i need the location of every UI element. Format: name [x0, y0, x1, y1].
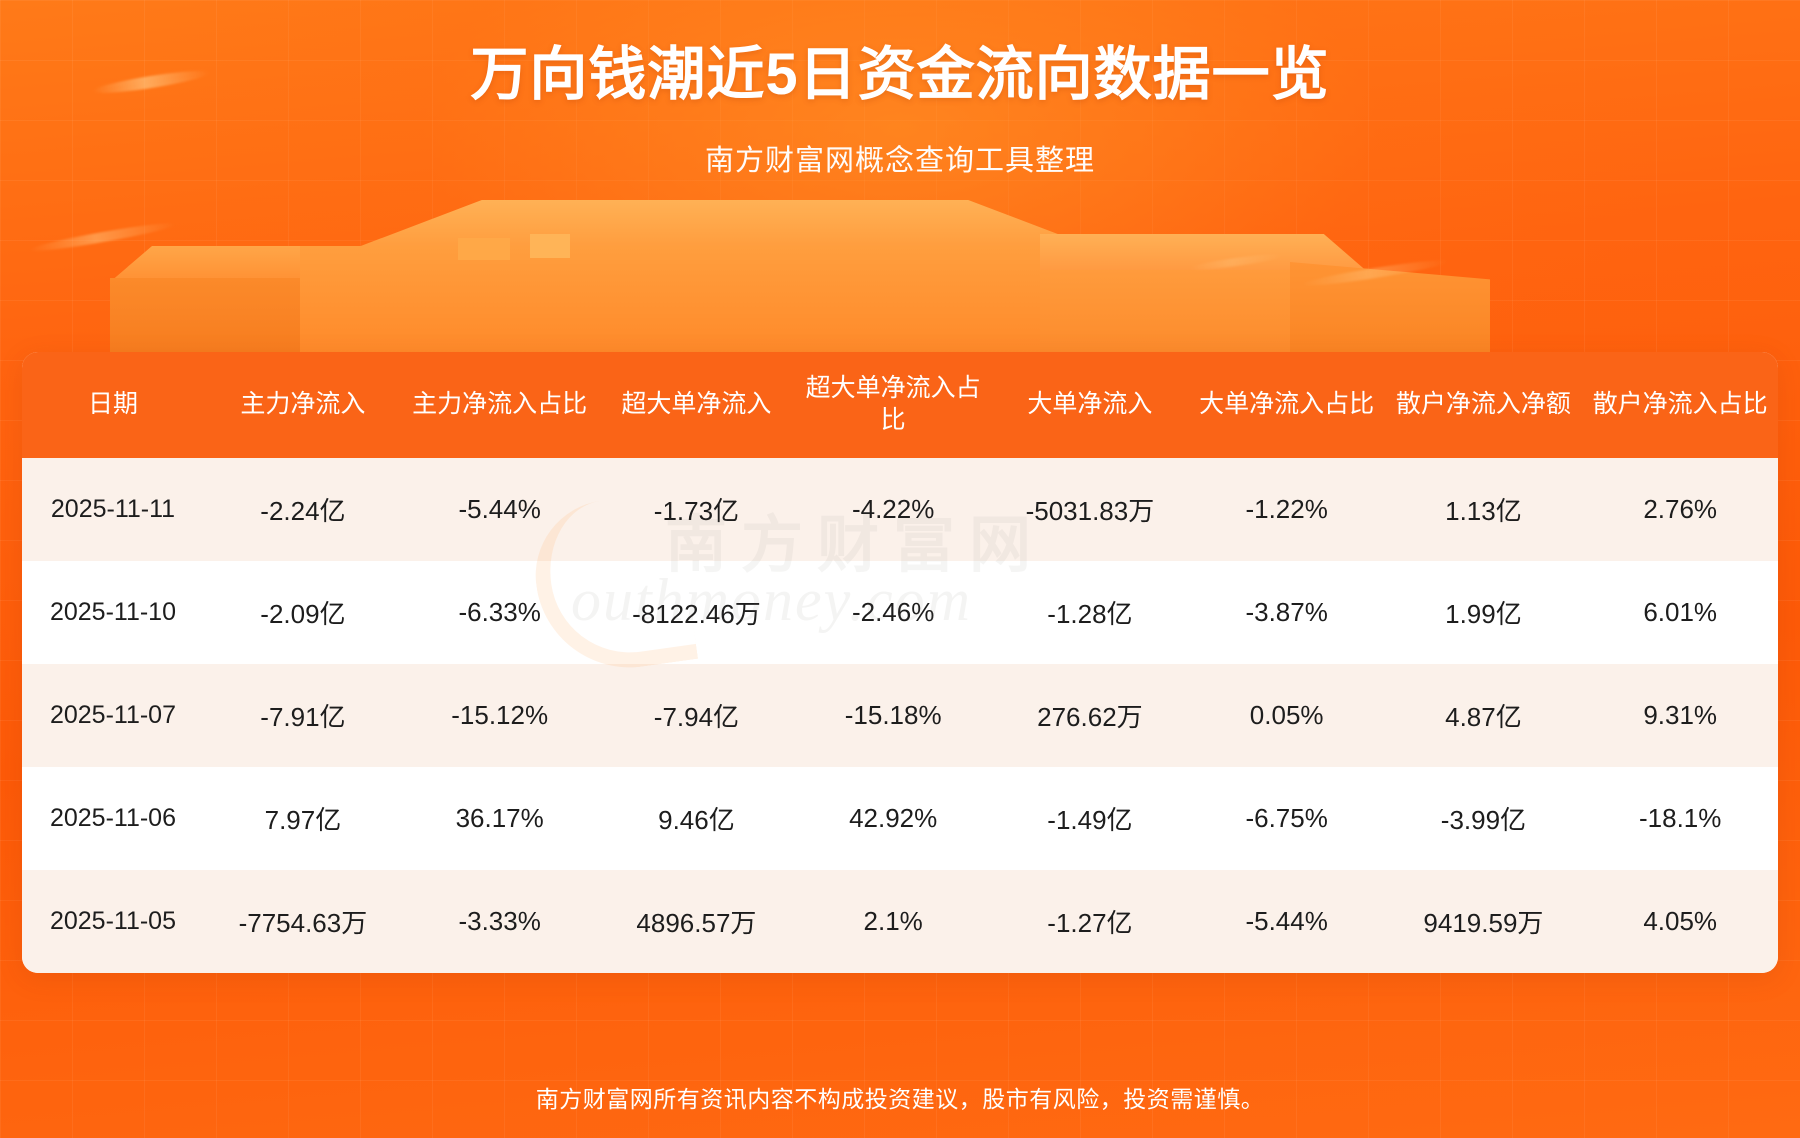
podium-nub-b: [458, 238, 510, 260]
cell-lg-net: -5031.83万: [991, 458, 1189, 561]
cell-xl-pct: 2.1%: [795, 870, 991, 973]
table-row: 2025-11-10 -2.09亿 -6.33% -8122.46万 -2.46…: [22, 561, 1778, 664]
cell-date: 2025-11-07: [22, 664, 204, 767]
column-header-xl-net: 超大单净流入: [597, 352, 795, 458]
page-title: 万向钱潮近5日资金流向数据一览: [0, 44, 1800, 107]
cell-lg-pct: -3.87%: [1189, 561, 1385, 664]
fund-flow-table: 日期 主力净流入 主力净流入占比 超大单净流入 超大单净流入占比 大单净流入 大…: [22, 352, 1778, 973]
cell-main-net: 7.97亿: [204, 767, 402, 870]
cell-main-pct: -3.33%: [402, 870, 598, 973]
disclaimer-text: 南方财富网所有资讯内容不构成投资建议，股市有风险，投资需谨慎。: [0, 1080, 1800, 1114]
cell-xl-pct: -15.18%: [795, 664, 991, 767]
cell-lg-pct: -6.75%: [1189, 767, 1385, 870]
cell-lg-net: -1.28亿: [991, 561, 1189, 664]
cell-lg-pct: -1.22%: [1189, 458, 1385, 561]
cell-lg-net: -1.49亿: [991, 767, 1189, 870]
column-header-main-net: 主力净流入: [204, 352, 402, 458]
cell-lg-net: -1.27亿: [991, 870, 1189, 973]
cell-main-net: -2.09亿: [204, 561, 402, 664]
column-header-lg-pct: 大单净流入占比: [1189, 352, 1385, 458]
cell-lg-net: 276.62万: [991, 664, 1189, 767]
cell-lg-pct: 0.05%: [1189, 664, 1385, 767]
cell-retail-net: -3.99亿: [1384, 767, 1582, 870]
cell-lg-pct: -5.44%: [1189, 870, 1385, 973]
cell-main-pct: -6.33%: [402, 561, 598, 664]
cell-xl-net: -1.73亿: [597, 458, 795, 561]
cell-main-net: -7.91亿: [204, 664, 402, 767]
cell-retail-pct: -18.1%: [1582, 767, 1778, 870]
column-header-retail-net: 散户净流入净额: [1384, 352, 1582, 458]
page-header: 万向钱潮近5日资金流向数据一览 南方财富网概念查询工具整理: [0, 0, 1800, 179]
table-row: 2025-11-05 -7754.63万 -3.33% 4896.57万 2.1…: [22, 870, 1778, 973]
cell-date: 2025-11-10: [22, 561, 204, 664]
column-header-retail-pct: 散户净流入占比: [1582, 352, 1778, 458]
table-header-row: 日期 主力净流入 主力净流入占比 超大单净流入 超大单净流入占比 大单净流入 大…: [22, 352, 1778, 458]
table-row: 2025-11-07 -7.91亿 -15.12% -7.94亿 -15.18%…: [22, 664, 1778, 767]
column-header-lg-net: 大单净流入: [991, 352, 1189, 458]
cell-xl-pct: -2.46%: [795, 561, 991, 664]
cell-xl-net: 4896.57万: [597, 870, 795, 973]
podium-nub-a: [530, 234, 570, 258]
cell-retail-net: 4.87亿: [1384, 664, 1582, 767]
cell-retail-pct: 2.76%: [1582, 458, 1778, 561]
cell-xl-net: 9.46亿: [597, 767, 795, 870]
cell-main-pct: -5.44%: [402, 458, 598, 561]
cell-xl-net: -7.94亿: [597, 664, 795, 767]
cell-retail-pct: 4.05%: [1582, 870, 1778, 973]
table-body: 2025-11-11 -2.24亿 -5.44% -1.73亿 -4.22% -…: [22, 458, 1778, 973]
table-header: 日期 主力净流入 主力净流入占比 超大单净流入 超大单净流入占比 大单净流入 大…: [22, 352, 1778, 458]
cell-retail-net: 1.99亿: [1384, 561, 1582, 664]
page-subtitle: 南方财富网概念查询工具整理: [0, 137, 1800, 179]
cell-main-pct: -15.12%: [402, 664, 598, 767]
cell-date: 2025-11-05: [22, 870, 204, 973]
cell-date: 2025-11-06: [22, 767, 204, 870]
table-row: 2025-11-06 7.97亿 36.17% 9.46亿 42.92% -1.…: [22, 767, 1778, 870]
cell-retail-net: 1.13亿: [1384, 458, 1582, 561]
cell-xl-pct: -4.22%: [795, 458, 991, 561]
cell-retail-pct: 6.01%: [1582, 561, 1778, 664]
cell-xl-net: -8122.46万: [597, 561, 795, 664]
cell-main-net: -7754.63万: [204, 870, 402, 973]
column-header-main-pct: 主力净流入占比: [402, 352, 598, 458]
cell-main-net: -2.24亿: [204, 458, 402, 561]
column-header-date: 日期: [22, 352, 204, 458]
cell-retail-pct: 9.31%: [1582, 664, 1778, 767]
column-header-xl-pct: 超大单净流入占比: [795, 352, 991, 458]
cell-main-pct: 36.17%: [402, 767, 598, 870]
cell-retail-net: 9419.59万: [1384, 870, 1582, 973]
table-row: 2025-11-11 -2.24亿 -5.44% -1.73亿 -4.22% -…: [22, 458, 1778, 561]
fund-flow-table-card: 南方财富网 outhmoney.com 日期 主力净流入 主力净流入占比 超大单…: [22, 352, 1778, 973]
cell-xl-pct: 42.92%: [795, 767, 991, 870]
cell-date: 2025-11-11: [22, 458, 204, 561]
